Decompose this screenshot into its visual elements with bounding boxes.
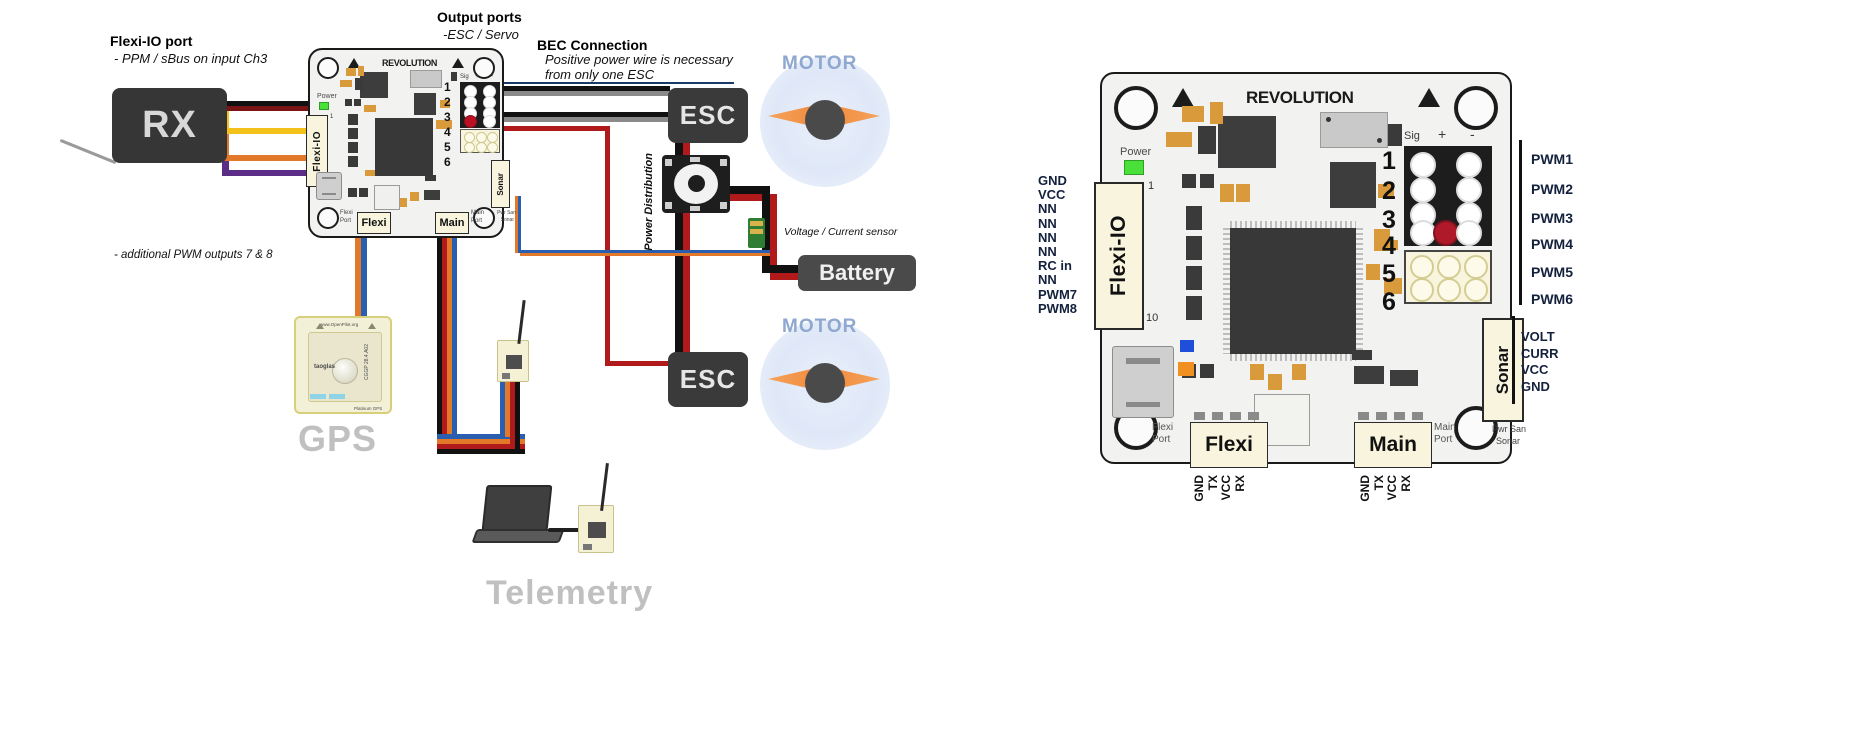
annotation-power-distribution: Power Distribution: [643, 153, 655, 251]
orientation-arrow-right-detail-icon: [1418, 88, 1440, 107]
flexi-port-pin-label-tx: TX: [1206, 475, 1220, 490]
pad-21: [365, 170, 375, 176]
pwr-san-sonar-line1-detail: Pwr San: [1492, 424, 1526, 434]
sonar-pin-label-volt: VOLT: [1521, 329, 1559, 346]
motor-top-hub: [805, 100, 845, 140]
pad-20: [425, 175, 436, 181]
annotation-flexi-io-subtitle: - PPM / sBus on input Ch3: [114, 51, 267, 66]
main-port-connector-detail[interactable]: Main: [1354, 422, 1432, 468]
pad-4: [355, 78, 363, 90]
telemetry-radio-module-ground: [578, 505, 614, 553]
pad-d4: [1198, 126, 1216, 154]
esc-top: ESC: [668, 88, 748, 143]
sonar-connector-label: Sonar: [496, 173, 505, 196]
pad-d24: [1388, 124, 1402, 146]
gps-arrow-right-icon: [368, 323, 376, 329]
flexi-port-pin-label-rx: RX: [1233, 475, 1247, 492]
wire-rx-darkred: [222, 106, 322, 111]
annotation-voltage-current-sensor: Voltage / Current sensor: [784, 226, 897, 238]
flexi-port-label-line1-detail: Flexi: [1152, 422, 1173, 433]
pad-2: [358, 66, 364, 76]
chip-detail-mcu: [1230, 228, 1356, 354]
main-port-connector-label: Main: [439, 217, 464, 229]
mount-hole-bottom-left: [317, 207, 339, 229]
gps-bottom-text: Platinum GPS: [354, 406, 382, 411]
pad-15: [348, 188, 357, 197]
rx-receiver: RX: [112, 88, 227, 163]
annotation-bec-line2: from only one ESC: [545, 67, 654, 82]
output-pin-number-2: 2: [444, 95, 451, 109]
header-caption-plus-detail: +: [1438, 126, 1446, 142]
motor-bottom-hub: [805, 363, 845, 403]
output-pin-number-6-detail: 6: [1382, 288, 1396, 317]
flexi-io-pin1-number: 1: [330, 114, 333, 120]
usb-connector[interactable]: [316, 172, 342, 200]
main-port-label-line2-detail: Port: [1434, 434, 1452, 445]
pad-16: [359, 188, 368, 197]
output-pin-number-5: 5: [444, 140, 451, 154]
chip-small-2: [414, 93, 436, 115]
wire-pdb-sensor-red: [728, 194, 766, 201]
output-pin-number-4-detail: 4: [1382, 232, 1396, 261]
chip-light-1: [410, 70, 442, 88]
wire-pdb-esc2-red: [683, 210, 690, 362]
header-caption-plus: +: [475, 73, 479, 80]
gps-url-text: www.OpenPilot.org: [320, 322, 358, 327]
flexi-port-label-line2-detail: Port: [1152, 434, 1170, 445]
output-pin-number-4: 4: [444, 125, 451, 139]
sonar-pinout-labels: VOLT CURR VCC GND: [1521, 329, 1559, 395]
flexi-io-pin-label-3: NN: [1038, 202, 1077, 216]
chip-detail-4: [1390, 370, 1418, 386]
main-port-label-line1: Main: [471, 210, 484, 216]
main-port-pin-label-vcc: VCC: [1385, 475, 1399, 500]
mount-hole-top-left: [317, 57, 339, 79]
power-led-indicator-detail: [1124, 160, 1144, 175]
flexi-io-pin-label-1: GND: [1038, 174, 1077, 188]
wire-rx-purple-bend: [222, 161, 229, 176]
mcu-pins-bottom: [1230, 354, 1356, 361]
mount-hole-top-left-detail: [1114, 86, 1158, 130]
flexi-io-connector-label-detail: Flexi-IO: [1107, 215, 1131, 296]
flexi-io-pin-label-10: PWM8: [1038, 302, 1077, 316]
wire-esc2-ground: [498, 117, 670, 122]
header-caption-sig-detail: Sig: [1404, 130, 1420, 142]
pad-3: [340, 80, 352, 87]
pad-9: [348, 128, 358, 139]
flexi-io-pinout-labels: GND VCC NN NN NN NN RC in NN PWM7 PWM8: [1038, 174, 1077, 316]
power-led-indicator: [319, 102, 329, 110]
main-port-pins-detail: [1358, 412, 1428, 420]
flexi-io-pin-label-8: NN: [1038, 273, 1077, 287]
output-pin-number-3: 3: [444, 110, 451, 124]
sonar-pin-label-gnd: GND: [1521, 379, 1559, 396]
flexi-port-connector-label-detail: Flexi: [1205, 433, 1253, 457]
gps-brand-text: taoglas: [314, 364, 335, 370]
wire-pdb-esc2-black: [675, 210, 683, 362]
pwm-label-4: PWM4: [1531, 236, 1573, 252]
esc-top-label: ESC: [680, 100, 736, 131]
flexi-port-connector[interactable]: Flexi: [357, 212, 391, 234]
pad-d10: [1186, 236, 1202, 260]
annotation-bec-line1: Positive power wire is necessary: [545, 52, 733, 67]
flexi-io-connector-detail[interactable]: Flexi-IO: [1094, 182, 1144, 330]
mcu-pins-top: [1230, 221, 1356, 228]
main-port-connector-label-detail: Main: [1369, 433, 1417, 457]
pad-d6: [1200, 174, 1214, 188]
flexi-port-label-line2: Port: [340, 218, 351, 224]
rx-label: RX: [142, 104, 197, 147]
sonar-connector-detail[interactable]: Sonar: [1482, 318, 1524, 422]
pad-10: [348, 142, 358, 153]
pwm-label-6: PWM6: [1531, 291, 1573, 307]
mcu-pins-right: [1356, 228, 1363, 354]
wire-sensor-signal-orange-vert: [515, 196, 518, 253]
flexi-io-pin-label-7: RC in: [1038, 259, 1077, 273]
wire-telemetry-black-up: [515, 375, 520, 450]
wire-gps-blue: [361, 238, 367, 316]
flexi-io-pin10-number-detail: 10: [1146, 312, 1158, 324]
orientation-arrow-right-icon: [452, 58, 464, 68]
main-port-label-line1-detail: Main: [1434, 422, 1456, 433]
pwr-san-sonar-line2-detail: Sonar: [1496, 436, 1520, 446]
output-header-pwm1-4[interactable]: [460, 82, 500, 128]
flexi-port-label-line1: Flexi: [340, 210, 353, 216]
wire-bec-red: [498, 126, 610, 131]
pad-22: [451, 72, 457, 81]
laptop-screen: [482, 485, 553, 531]
chip-detail-light-1: [1320, 112, 1388, 148]
board-brand-label: REVOLUTION: [382, 58, 437, 68]
wire-bec-red-to-esc2: [605, 361, 675, 366]
header-caption-minus: -: [491, 73, 493, 80]
output-header-pwm5-6[interactable]: [460, 129, 500, 153]
voltage-current-sensor: [748, 218, 765, 248]
annotation-output-ports-title: Output ports: [437, 9, 522, 25]
sonar-label-connector-bar: [1512, 316, 1515, 404]
pad-8: [348, 114, 358, 125]
power-text-label-detail: Power: [1120, 146, 1151, 158]
pad-d7: [1220, 184, 1234, 202]
wire-pdb-sensor-black: [728, 186, 766, 194]
chip-mcu: [375, 118, 433, 176]
gps-side-text: CGGP 28.4.A02: [364, 344, 370, 380]
output-header-pwm5-6-detail[interactable]: [1404, 250, 1492, 304]
header-caption-sig: Sig: [460, 74, 469, 80]
pad-d15: [1366, 264, 1380, 280]
main-port-pin-label-tx: TX: [1372, 475, 1386, 490]
flexi-port-pin-label-vcc: VCC: [1219, 475, 1233, 500]
pad-d8: [1236, 184, 1250, 202]
antenna-air-module: [517, 300, 525, 344]
sonar-pin-label-curr: CURR: [1521, 346, 1559, 363]
pwm-label-1: PWM1: [1531, 151, 1573, 167]
flexi-io-connector-label: Flexi-IO: [312, 131, 323, 172]
pwm-label-5: PWM5: [1531, 264, 1573, 280]
pad-11: [348, 156, 358, 167]
pad-d1: [1182, 106, 1204, 122]
gps-antenna-dome: [332, 358, 358, 384]
battery-label: Battery: [819, 260, 895, 286]
chip-detail-1: [1218, 116, 1276, 168]
wire-esc1-ground: [498, 91, 670, 96]
antenna-ground-module: [600, 463, 609, 511]
gps-module: www.OpenPilot.org CGGP 28.4.A02 Platinum…: [294, 316, 392, 414]
pad-d9: [1186, 206, 1202, 230]
sonar-pin-label-vcc: VCC: [1521, 362, 1559, 379]
power-distribution-board: [662, 155, 730, 213]
pad-d3: [1166, 132, 1192, 147]
wire-main-blue: [452, 238, 457, 454]
esc-bottom-label: ESC: [680, 364, 736, 395]
flexi-io-pin-label-9: PWM7: [1038, 288, 1077, 302]
flight-controller-board-right: REVOLUTION: [1100, 72, 1512, 464]
wire-sensor-batt-red: [770, 194, 777, 272]
pwr-san-sonar-line2: Sonar: [501, 217, 514, 223]
pad-5: [364, 105, 376, 112]
main-port-pin-label-rx: RX: [1399, 475, 1413, 492]
wire-laptop-usb: [548, 528, 582, 532]
output-pin-number-1-detail: 1: [1382, 147, 1396, 176]
sonar-connector-label-detail: Sonar: [1493, 346, 1513, 394]
flexi-port-connector-detail[interactable]: Flexi: [1190, 422, 1268, 468]
pwr-san-sonar-line1: Pwr San: [497, 210, 516, 216]
leader-bec: [498, 82, 734, 84]
pad-1: [346, 68, 356, 76]
output-pin-number-5-detail: 5: [1382, 260, 1396, 289]
motor-bottom-label: MOTOR: [782, 316, 857, 338]
annotation-additional-pwm-note: - additional PWM outputs 7 & 8: [114, 249, 273, 261]
mcu-pins-left: [1223, 228, 1230, 354]
chip-light-2: [374, 185, 400, 210]
header-caption-minus-detail: -: [1470, 126, 1475, 142]
wire-rx-antenna: [60, 139, 117, 164]
telemetry-radio-module-air: [497, 340, 529, 382]
main-port-connector[interactable]: Main: [435, 212, 469, 234]
flexi-port-pin-label-gnd: GND: [1192, 475, 1206, 502]
wire-sensor-signal-blue-vert: [518, 196, 521, 253]
output-pin-number-3-detail: 3: [1382, 206, 1396, 235]
pad-d11: [1186, 266, 1202, 290]
wire-sensor-signal-orange: [520, 253, 770, 256]
chip-detail-3: [1354, 366, 1384, 384]
motor-top-label: MOTOR: [782, 53, 857, 75]
gps-label: GPS: [298, 418, 377, 460]
battery: Battery: [798, 255, 916, 291]
pad-d21: [1292, 364, 1306, 380]
flexi-port-connector-label: Flexi: [361, 217, 386, 229]
gps-strip-2: [329, 394, 345, 399]
pad-7: [354, 99, 361, 106]
sonar-connector[interactable]: Sonar: [491, 160, 510, 208]
pwm-label-3: PWM3: [1531, 210, 1573, 226]
pad-d5: [1182, 174, 1196, 188]
pad-19: [410, 192, 419, 201]
main-port-pin-label-gnd: GND: [1358, 475, 1372, 502]
pad-d22: [1352, 350, 1372, 360]
power-text-label: Power: [317, 93, 337, 100]
main-port-label-line2: Port: [471, 218, 482, 224]
flexi-io-pin-label-2: VCC: [1038, 188, 1077, 202]
pwm-label-2: PWM2: [1531, 181, 1573, 197]
output-pin-number-6: 6: [444, 155, 451, 169]
annotation-bec-title: BEC Connection: [537, 37, 647, 53]
orientation-arrow-left-detail-icon: [1172, 88, 1194, 107]
flexi-io-pin1-number-detail: 1: [1148, 180, 1154, 192]
flight-controller-board-left: REVOLUTION Power Flexi-: [308, 48, 504, 238]
pad-d18: [1200, 364, 1214, 378]
telemetry-label: Telemetry: [486, 574, 653, 613]
chip-detail-2: [1330, 162, 1376, 208]
wire-main-black-h: [437, 449, 525, 454]
board-brand-label-detail: REVOLUTION: [1246, 88, 1353, 108]
esc-bottom: ESC: [668, 352, 748, 407]
pad-blue-detail: [1180, 340, 1194, 352]
pad-d2: [1210, 102, 1223, 124]
flexi-io-pin-label-4: NN: [1038, 217, 1077, 231]
flexi-port-pins-detail: [1194, 412, 1264, 420]
pwm-label-connector-bar: [1519, 140, 1522, 305]
flexi-io-pin-label-6: NN: [1038, 245, 1077, 259]
output-header-pwm1-4-detail[interactable]: [1404, 146, 1492, 246]
flexi-io-pin-label-5: NN: [1038, 231, 1077, 245]
pad-d19: [1250, 364, 1264, 380]
pad-d20: [1268, 374, 1282, 390]
annotation-flexi-io-title: Flexi-IO port: [110, 33, 192, 49]
annotation-output-ports-subtitle: -ESC / Servo: [443, 27, 519, 42]
gps-strip-1: [310, 394, 326, 399]
gps-arrow-left-icon: [316, 323, 324, 329]
usb-connector-detail[interactable]: [1112, 346, 1174, 418]
mount-hole-top-right-detail: [1454, 86, 1498, 130]
chip-small-1: [360, 72, 388, 98]
pad-6: [345, 99, 352, 106]
output-pin-number-1: 1: [444, 80, 451, 94]
pad-13: [436, 120, 444, 129]
output-pin-number-2-detail: 2: [1382, 177, 1396, 206]
pad-d12: [1186, 296, 1202, 320]
pad-orange-detail: [1178, 362, 1194, 376]
chip-small-3: [424, 190, 440, 200]
wire-bec-red-vert: [605, 126, 610, 366]
